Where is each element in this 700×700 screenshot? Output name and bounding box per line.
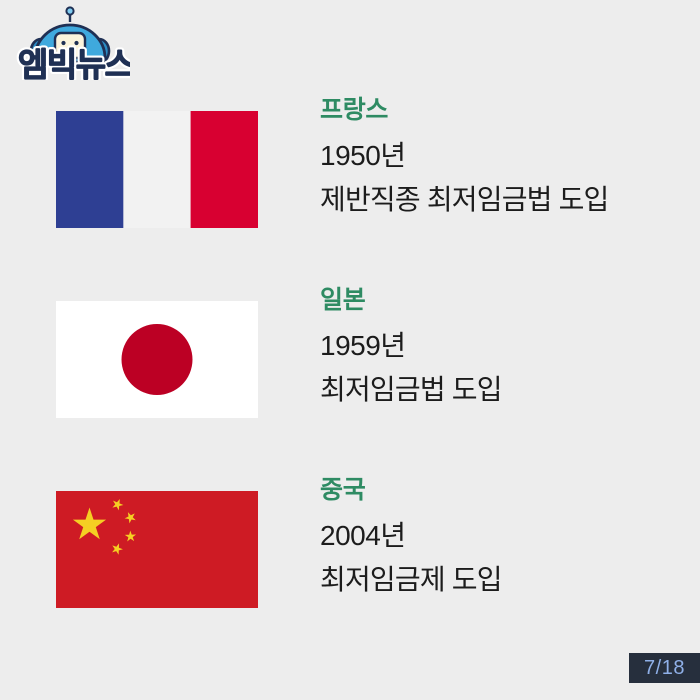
country-name: 중국 [320,475,690,505]
entry-row: 일본 1959년 최저임금법 도입 [0,285,700,475]
china-field [56,491,258,608]
france-band-blue [56,111,123,228]
page-indicator-badge: 7/18 [629,653,700,683]
entry-year: 1959년 [320,329,690,363]
entry-row: 프랑스 1950년 제반직종 최저임금법 도입 [0,95,700,285]
flag-china [56,491,258,608]
entry-year: 2004년 [320,519,690,553]
logo-wordmark-text: 엠빅뉴스 [18,46,130,80]
logo-wordmark-glyphs: 엠빅뉴스 엠빅뉴스 [18,46,130,80]
france-band-white [123,111,190,228]
country-name: 일본 [320,285,690,315]
entry-detail: 최저임금법 도입 [320,373,690,407]
france-band-red [191,111,258,228]
flag-france [56,111,258,228]
japan-sun-disc [122,324,193,395]
entry-text-block: 중국 2004년 최저임금제 도입 [320,475,690,597]
entry-detail: 최저임금제 도입 [320,563,690,597]
entry-row: 중국 2004년 최저임금제 도입 [0,475,700,665]
brand-logo: 엠빅뉴스 엠빅뉴스 엠빅뉴스 [10,6,130,80]
entry-text-block: 프랑스 1950년 제반직종 최저임금법 도입 [320,95,690,217]
entry-detail: 제반직종 최저임금법 도입 [320,183,690,217]
flag-japan [56,301,258,418]
entry-text-block: 일본 1959년 최저임금법 도입 [320,285,690,407]
country-name: 프랑스 [320,95,690,125]
entry-year: 1950년 [320,139,690,173]
